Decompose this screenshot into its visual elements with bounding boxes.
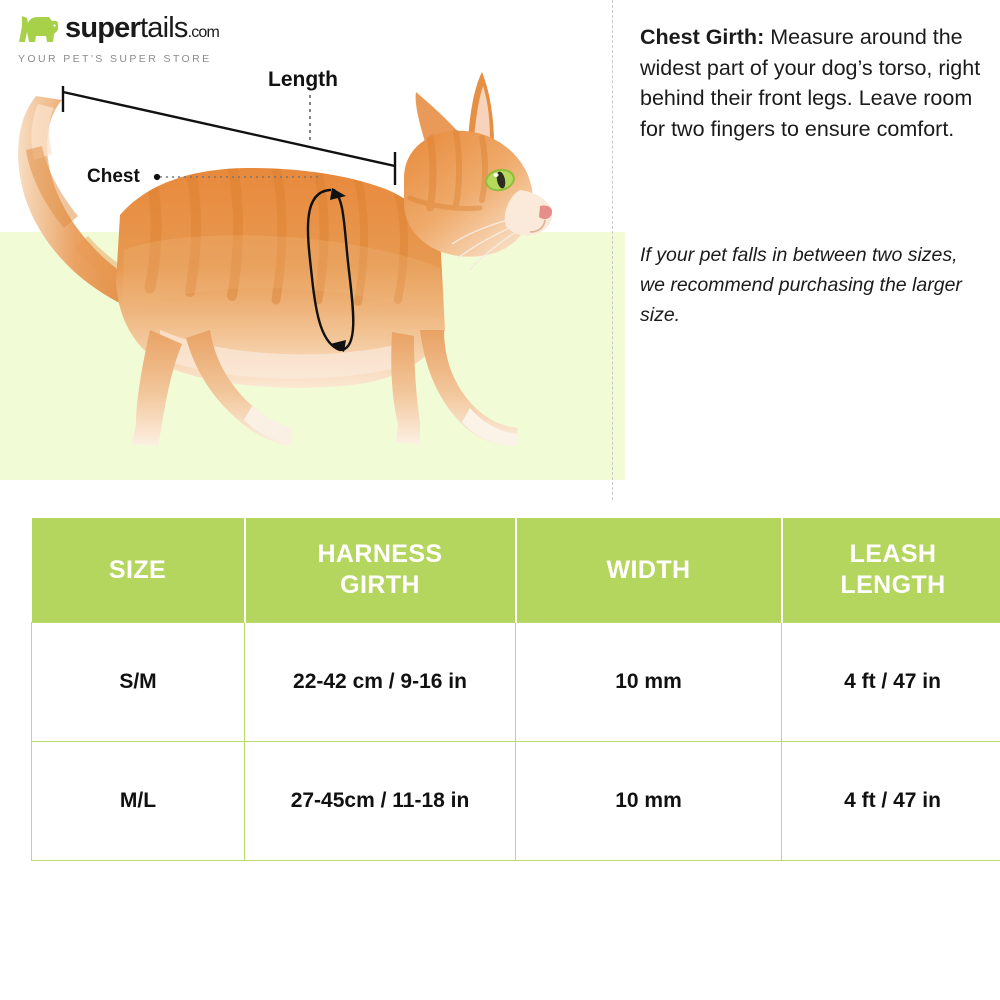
header-harness-girth-line-1: HARNESS	[250, 539, 511, 570]
table-header-row: SIZE HARNESS GIRTH WIDTH LEASH LENGTH	[32, 518, 1000, 623]
header-width-line-1: WIDTH	[521, 555, 777, 586]
chest-leader-dot	[154, 174, 160, 180]
table-row: M/L 27-45cm / 11-18 in 10 mm 4 ft / 47 i…	[32, 742, 1000, 861]
header-harness-girth-line-2: GIRTH	[250, 570, 511, 601]
chest-girth-description: Chest Girth: Measure around the widest p…	[640, 22, 985, 144]
cell-size: S/M	[32, 623, 245, 742]
measurement-illustration: Length Chest	[0, 0, 625, 500]
cat-front-leg-near	[420, 330, 518, 446]
cell-harness-girth: 27-45cm / 11-18 in	[245, 742, 516, 861]
sizing-note: If your pet falls in between two sizes, …	[640, 240, 985, 330]
header-width: WIDTH	[516, 518, 782, 623]
header-leash-length: LEASH LENGTH	[782, 518, 1000, 623]
size-table: SIZE HARNESS GIRTH WIDTH LEASH LENGTH S/…	[31, 518, 1000, 861]
header-leash-length-line-2: LENGTH	[787, 570, 1000, 601]
cell-leash-length: 4 ft / 47 in	[782, 742, 1000, 861]
cell-leash-length: 4 ft / 47 in	[782, 623, 1000, 742]
cell-harness-girth: 22-42 cm / 9-16 in	[245, 623, 516, 742]
cat-head	[404, 72, 552, 270]
cat-hind-leg-far	[132, 330, 182, 446]
header-leash-length-line-1: LEASH	[787, 539, 1000, 570]
header-size-line-1: SIZE	[36, 555, 240, 586]
cell-size: M/L	[32, 742, 245, 861]
chest-girth-heading: Chest Girth:	[640, 25, 764, 49]
header-size: SIZE	[32, 518, 245, 623]
cell-width: 10 mm	[516, 623, 782, 742]
chest-label: Chest	[87, 166, 140, 188]
table-row: S/M 22-42 cm / 9-16 in 10 mm 4 ft / 47 i…	[32, 623, 1000, 742]
size-chart-page: supertails.com YOUR PET'S SUPER STORE	[0, 0, 1000, 1000]
length-label: Length	[268, 68, 338, 92]
header-harness-girth: HARNESS GIRTH	[245, 518, 516, 623]
cell-width: 10 mm	[516, 742, 782, 861]
